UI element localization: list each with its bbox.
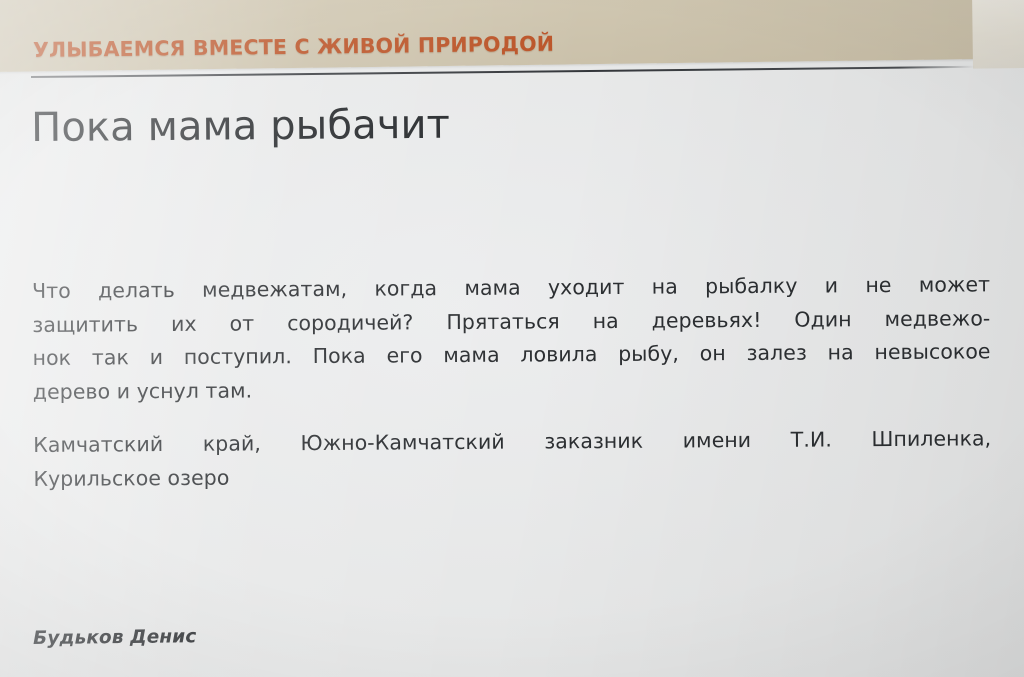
location-paragraph: Камчатский край, Южно-Камчатский заказни… (33, 422, 991, 496)
location-line: Камчатский край, Южно-Камчатский заказни… (33, 422, 991, 462)
description-line: дерево и уснул там. (33, 369, 991, 409)
page-title: Пока мама рыбачит (31, 102, 450, 151)
exhibition-placard-photo: УЛЫБАЕМСЯ ВМЕСТЕ С ЖИВОЙ ПРИРОДОЙ Пока м… (0, 0, 1024, 677)
description-line: нок так и поступил. Пока его мама ловила… (32, 335, 990, 375)
location-line: Курильское озеро (33, 456, 991, 496)
placard-text-block: Что делать медвежатам, когда мама уходит… (32, 268, 992, 496)
description-paragraph: Что делать медвежатам, когда мама уходит… (32, 268, 991, 409)
header-band-right-edge (972, 0, 1024, 69)
author-credit: Будьков Денис (33, 626, 196, 649)
